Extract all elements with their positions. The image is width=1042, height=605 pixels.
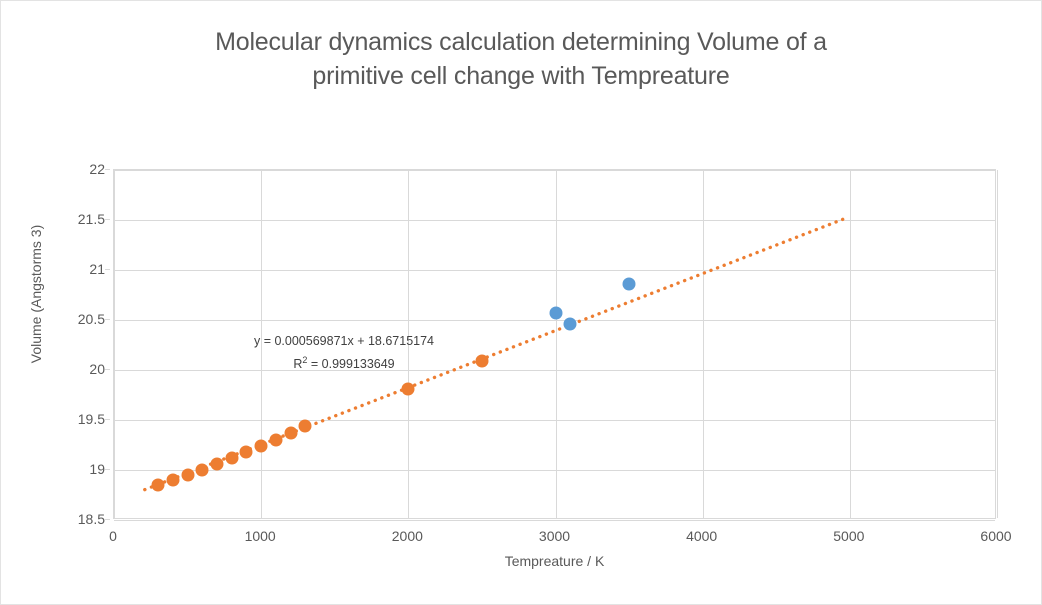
gridline-vertical (556, 170, 557, 518)
data-point-marker (166, 474, 179, 487)
x-axis-tick-label: 5000 (819, 528, 879, 544)
data-point-marker (549, 307, 562, 320)
gridline-vertical (114, 170, 115, 518)
data-point-marker (284, 427, 297, 440)
data-point-marker (152, 479, 165, 492)
x-axis-title: Tempreature / K (113, 553, 996, 569)
y-axis-tick-labels: 18.51919.52020.52121.522 (57, 169, 105, 519)
x-axis-tick-label: 2000 (377, 528, 437, 544)
y-axis-tick-label: 19.5 (61, 411, 105, 427)
data-point-marker (623, 278, 636, 291)
data-point-marker (299, 420, 312, 433)
trendline-r-squared-text: R2 = 0.999133649 (209, 351, 479, 374)
data-point-marker (211, 458, 224, 471)
y-axis-tick-mark (105, 519, 110, 520)
gridline-horizontal (114, 270, 995, 271)
plot-area: y = 0.000569871x + 18.6715174 R2 = 0.999… (113, 169, 996, 519)
data-point-marker (225, 452, 238, 465)
y-axis-tick-mark (105, 269, 110, 270)
y-axis-tick-label: 22 (61, 161, 105, 177)
x-axis-tick-label: 4000 (672, 528, 732, 544)
chart-title-line-2: primitive cell change with Tempreature (312, 62, 729, 90)
x-axis-tick-label: 6000 (966, 528, 1026, 544)
y-axis-tick-label: 18.5 (61, 511, 105, 527)
data-point-marker (181, 469, 194, 482)
chart-title-line-1: Molecular dynamics calculation determini… (215, 28, 827, 56)
chart-card: Molecular dynamics calculation determini… (0, 0, 1042, 605)
y-axis-title: Volume (Angstorms 3) (28, 194, 44, 394)
gridline-horizontal (114, 220, 995, 221)
gridline-horizontal (114, 170, 995, 171)
y-axis-tick-mark (105, 369, 110, 370)
y-axis-tick-mark (105, 219, 110, 220)
data-point-marker (564, 318, 577, 331)
y-axis-tick-mark (105, 469, 110, 470)
data-point-marker (269, 434, 282, 447)
gridline-horizontal (114, 420, 995, 421)
y-axis-tick-label: 21.5 (61, 211, 105, 227)
x-axis-tick-label: 1000 (230, 528, 290, 544)
y-axis-tick-label: 19 (61, 461, 105, 477)
data-point-marker (255, 440, 268, 453)
trendline-equation-text: y = 0.000569871x + 18.6715174 (209, 332, 479, 351)
gridline-vertical (703, 170, 704, 518)
gridline-vertical (850, 170, 851, 518)
gridline-horizontal (114, 320, 995, 321)
gridline-horizontal (114, 470, 995, 471)
gridline-horizontal (114, 520, 995, 521)
y-axis-tick-mark (105, 319, 110, 320)
y-axis-tick-mark (105, 169, 110, 170)
data-point-marker (402, 383, 415, 396)
y-axis-tick-label: 20.5 (61, 311, 105, 327)
r-squared-value: 0.999133649 (322, 357, 395, 371)
y-axis-tick-mark (105, 419, 110, 420)
data-point-marker (240, 446, 253, 459)
gridline-vertical (997, 170, 998, 518)
x-axis-tick-label: 0 (83, 528, 143, 544)
data-point-marker (196, 464, 209, 477)
chart-title: Molecular dynamics calculation determini… (121, 25, 921, 93)
y-axis-tick-label: 21 (61, 261, 105, 277)
y-axis-tick-label: 20 (61, 361, 105, 377)
x-axis-tick-label: 3000 (525, 528, 585, 544)
trendline-equation-annotation: y = 0.000569871x + 18.6715174 R2 = 0.999… (209, 332, 479, 374)
